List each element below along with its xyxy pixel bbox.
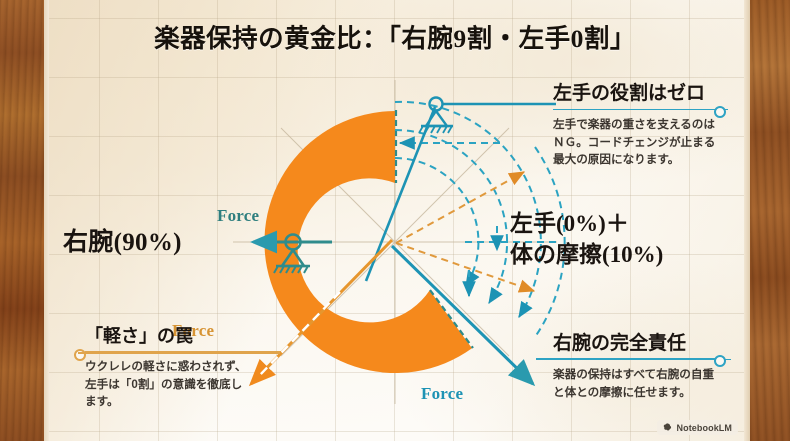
wood-frame-right	[750, 0, 790, 441]
callout-bottom-left-rule	[85, 351, 281, 353]
pin-support-top-right	[419, 98, 556, 134]
notebooklm-logo-icon	[662, 422, 673, 433]
callout-bottom-left-title: 「軽さ」の罠	[85, 327, 281, 347]
callout-bottom-left: 「軽さ」の罠 ウクレレの軽さに惑わされず、 左手は「0割」の意識を徹底し ます。	[85, 327, 281, 411]
label-right-arm: 右腕(90%)	[63, 222, 182, 258]
callout-bottom-right-endpoint-dot	[714, 355, 726, 367]
notebooklm-watermark: NotebookLM	[657, 420, 739, 435]
label-left-hand-line2: 体の摩擦(10%)	[510, 240, 663, 271]
callout-bottom-right: 右腕の完全責任 楽器の保持はすべて右腕の自重 と体との摩擦に任せます。	[553, 334, 731, 401]
callout-bottom-right-title: 右腕の完全責任	[553, 334, 731, 355]
callout-top-right-rule	[553, 109, 728, 111]
callout-bottom-left-endpoint-dot	[74, 349, 86, 361]
callout-top-right-body: 左手で楽器の重さを支えるのは ＮＧ。コードチェンジが止まる 最大の原因になります…	[553, 116, 728, 168]
callout-bottom-right-rule	[553, 359, 731, 361]
force-label-bottom-right: Force	[421, 384, 463, 404]
slide-canvas: 楽器保持の黄金比：「右腕9割・左手0割」	[0, 0, 790, 441]
callout-top-right-title: 左手の役割はゼロ	[553, 84, 728, 105]
notebooklm-watermark-text: NotebookLM	[677, 423, 733, 433]
frame-edge-right	[744, 0, 750, 441]
force-label-left: Force	[217, 206, 259, 226]
callout-bottom-right-body: 楽器の保持はすべて右腕の自重 と体との摩擦に任せます。	[553, 366, 731, 401]
label-left-hand: 左手(0%)＋ 体の摩擦(10%)	[510, 209, 663, 271]
callout-top-right: 左手の役割はゼロ 左手で楽器の重さを支えるのは ＮＧ。コードチェンジが止まる 最…	[553, 84, 728, 169]
callout-top-right-endpoint-dot	[714, 106, 726, 118]
label-left-hand-line1: 左手(0%)＋	[510, 209, 663, 240]
callout-bottom-left-body: ウクレレの軽さに惑わされず、 左手は「0割」の意識を徹底し ます。	[85, 358, 281, 410]
